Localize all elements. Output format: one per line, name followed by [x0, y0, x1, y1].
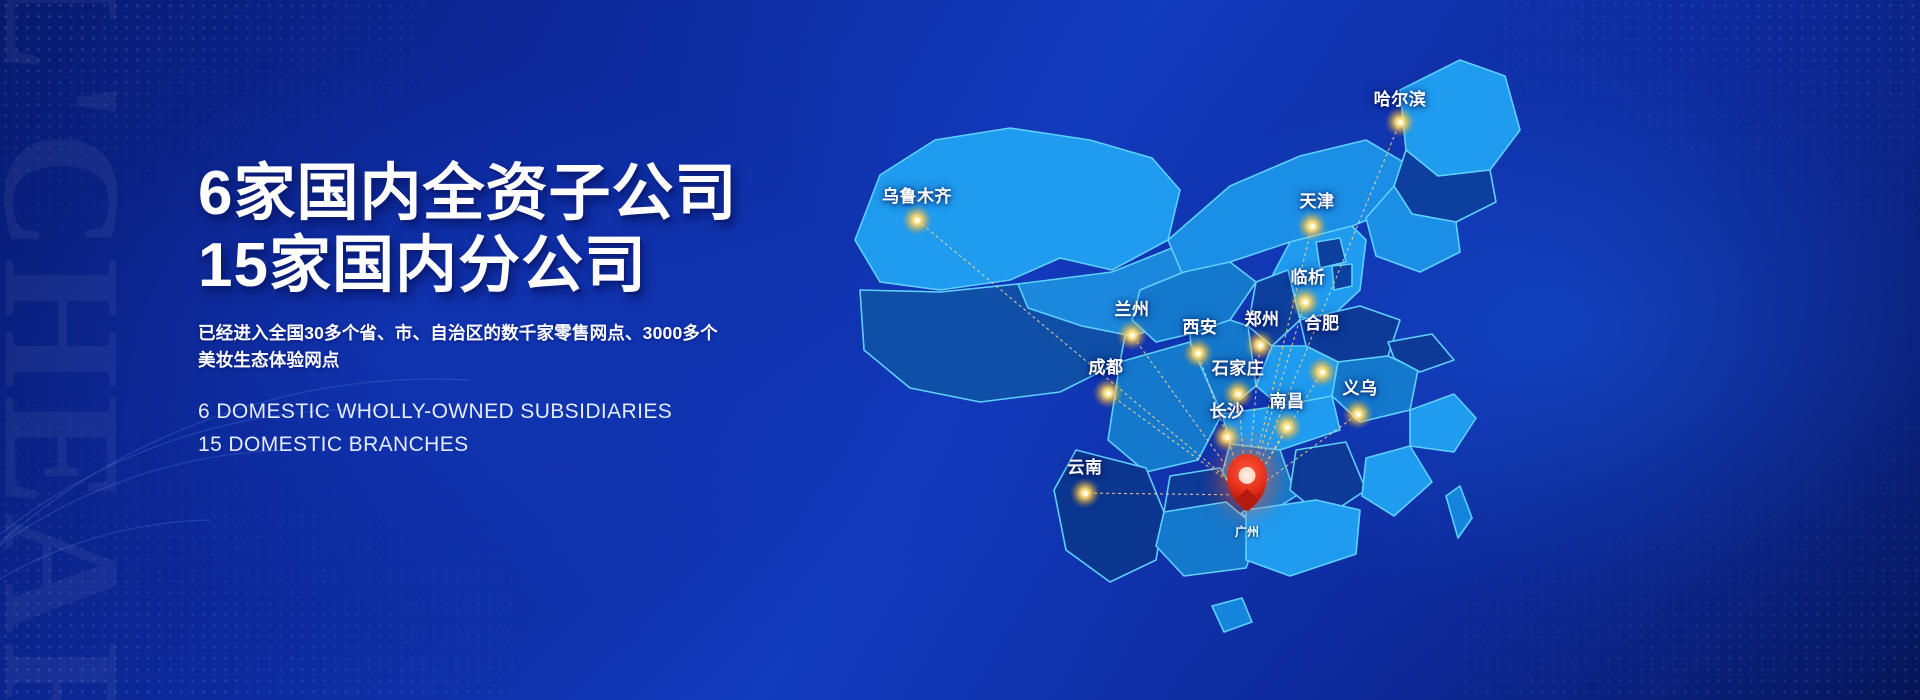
city-label[interactable]: 南昌 — [1270, 387, 1305, 412]
brand-watermark: L'CHEAR — [0, 0, 146, 700]
city-marker-dot[interactable] — [1307, 357, 1337, 387]
city-marker-dot[interactable] — [1297, 211, 1327, 241]
subtitle-cn-line-1: 已经进入全国30多个省、市、自治区的数千家零售网点、3000多个 — [198, 320, 838, 347]
city-marker-dot[interactable] — [1093, 378, 1123, 408]
city-label[interactable]: 天津 — [1300, 187, 1335, 212]
city-label[interactable]: 成都 — [1089, 353, 1124, 378]
subtitle-english: 6 DOMESTIC WHOLLY-OWNED SUBSIDIARIES 15 … — [198, 396, 838, 461]
city-marker-dot[interactable] — [1070, 478, 1100, 508]
subtitle-en-line-1: 6 DOMESTIC WHOLLY-OWNED SUBSIDIARIES — [198, 396, 838, 429]
china-map-shapes — [760, 0, 1920, 700]
city-label[interactable]: 合肥 — [1305, 309, 1340, 334]
location-pin-icon — [1227, 454, 1267, 506]
subtitle-chinese: 已经进入全国30多个省、市、自治区的数千家零售网点、3000多个 美妆生态体验网… — [198, 320, 838, 374]
headquarters-marker[interactable]: 广州 — [1212, 452, 1282, 538]
headline: 6家国内全资子公司 15家国内分公司 — [198, 158, 838, 302]
hq-label: 广州 — [1235, 523, 1259, 540]
city-marker-dot[interactable] — [1385, 107, 1415, 137]
city-label[interactable]: 乌鲁木齐 — [882, 182, 952, 207]
city-marker-dot[interactable] — [1343, 399, 1373, 429]
china-map: 哈尔滨乌鲁木齐天津临析兰州西安郑州合肥成都石家庄义乌长沙南昌云南 广州 — [760, 0, 1920, 700]
promo-banner: L'CHEAR 6家国内全资子公司 15家国内分公司 已经进入全国30多个省、市… — [0, 0, 1920, 700]
city-label[interactable]: 云南 — [1068, 453, 1103, 478]
city-label[interactable]: 临析 — [1291, 263, 1326, 288]
city-label[interactable]: 郑州 — [1245, 305, 1280, 330]
city-marker-dot[interactable] — [1272, 412, 1302, 442]
headline-line-1: 6家国内全资子公司 — [198, 159, 737, 228]
city-marker-dot[interactable] — [1117, 320, 1147, 350]
subtitle-cn-line-2: 美妆生态体验网点 — [198, 347, 838, 374]
city-label[interactable]: 兰州 — [1115, 295, 1150, 320]
city-label[interactable]: 长沙 — [1210, 397, 1245, 422]
headline-line-2: 15家国内分公司 — [198, 230, 838, 302]
headline-block: 6家国内全资子公司 15家国内分公司 已经进入全国30多个省、市、自治区的数千家… — [198, 158, 838, 461]
subtitle-en-line-2: 15 DOMESTIC BRANCHES — [198, 429, 838, 462]
city-marker-dot[interactable] — [1183, 338, 1213, 368]
city-marker-dot[interactable] — [1212, 422, 1242, 452]
city-marker-dot[interactable] — [902, 205, 932, 235]
city-label[interactable]: 义乌 — [1343, 374, 1378, 399]
city-label[interactable]: 西安 — [1183, 313, 1218, 338]
city-label[interactable]: 石家庄 — [1212, 354, 1265, 379]
